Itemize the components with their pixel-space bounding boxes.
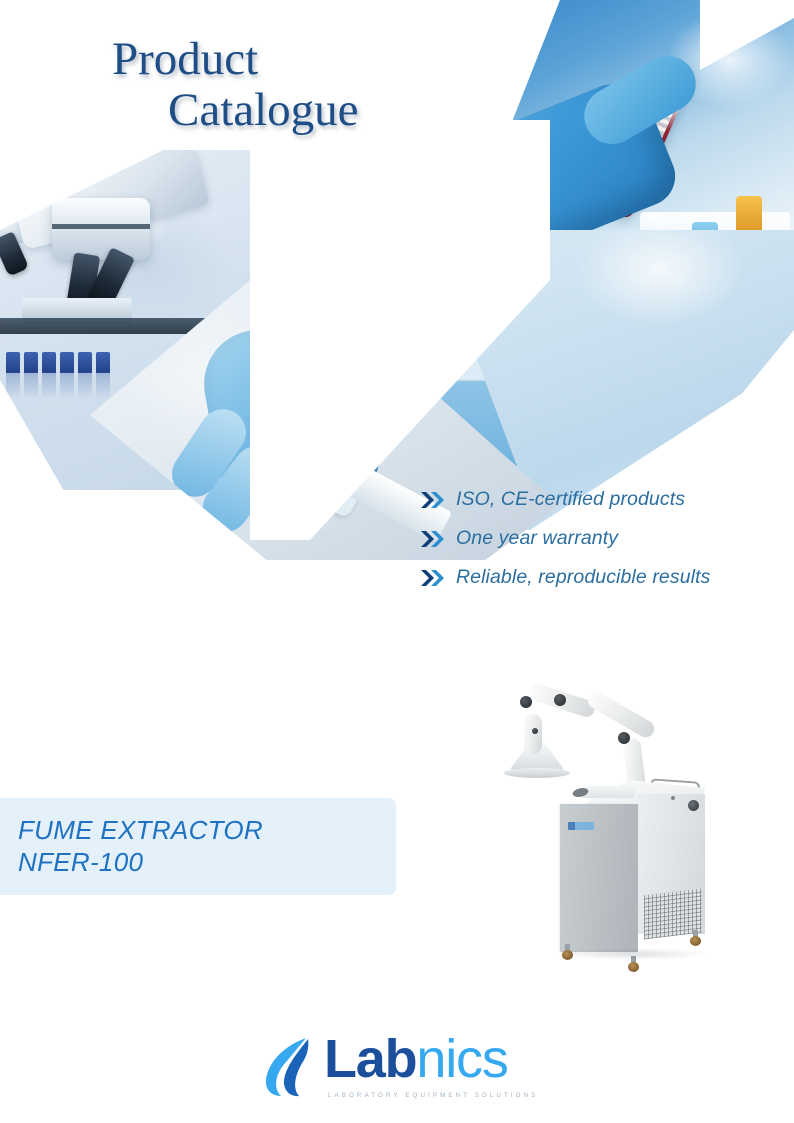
- page-title: Product Catalogue: [112, 34, 532, 136]
- product-name-band: FUME EXTRACTOR NFER-100: [0, 798, 396, 895]
- feature-label: One year warranty: [456, 527, 618, 550]
- control-panel: [581, 786, 639, 798]
- page-title-line-2: Catalogue: [112, 85, 532, 136]
- footer: Labnics LABORATORY EQUIPMENT SOLUTIONS: [0, 1022, 794, 1123]
- product-image-fume-extractor: [498, 676, 708, 986]
- feature-label: ISO, CE-certified products: [456, 488, 685, 511]
- wordmark-lab: Lab: [324, 1029, 416, 1089]
- arm-pivot-joint: [520, 696, 532, 708]
- arm-pivot-joint: [618, 732, 630, 744]
- extraction-arm-segment: [524, 714, 542, 754]
- cabinet-indicator: [671, 796, 675, 800]
- labnics-swoosh-icon: [262, 1036, 328, 1100]
- capture-hood-lip: [504, 768, 570, 778]
- labnics-wordmark: Labnics: [324, 1032, 508, 1086]
- cabinet-port-knob: [688, 800, 699, 811]
- feature-item: ISO, CE-certified products: [420, 488, 710, 511]
- product-shadow: [556, 948, 708, 960]
- labnics-logo: Labnics LABORATORY EQUIPMENT SOLUTIONS: [262, 1032, 542, 1110]
- page-title-line-1: Product: [112, 34, 532, 85]
- double-chevron-icon: [420, 568, 446, 588]
- double-chevron-icon: [420, 529, 446, 549]
- product-name: FUME EXTRACTOR: [18, 815, 396, 847]
- arm-pivot-joint: [554, 694, 566, 706]
- microscope-turret: [52, 198, 150, 260]
- feature-item: Reliable, reproducible results: [420, 566, 710, 589]
- double-chevron-icon: [420, 490, 446, 510]
- arm-pivot-joint: [532, 728, 538, 734]
- product-model: NFER-100: [18, 847, 396, 879]
- cabinet-brand-badge: [568, 822, 594, 830]
- catalogue-cover-page: Product Catalogue ISO, CE-certified prod…: [0, 0, 794, 1123]
- caster-wheel: [690, 930, 701, 946]
- feature-item: One year warranty: [420, 527, 710, 550]
- logo-tagline: LABORATORY EQUIPMENT SOLUTIONS: [328, 1092, 544, 1099]
- feature-label: Reliable, reproducible results: [456, 566, 710, 589]
- feature-list: ISO, CE-certified products One year warr…: [420, 488, 710, 605]
- wordmark-nics: nics: [416, 1029, 507, 1089]
